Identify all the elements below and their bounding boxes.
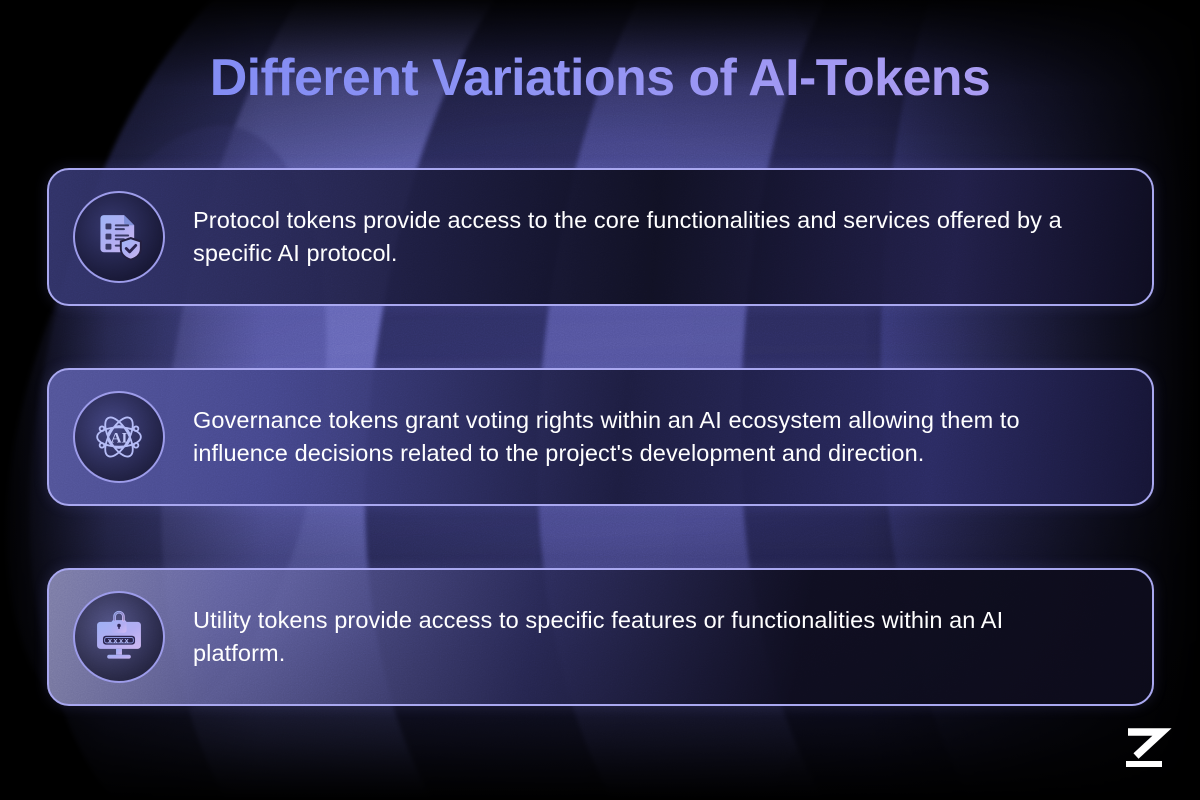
icon-badge-utility: xxxx (73, 591, 165, 683)
card-utility-tokens[interactable]: xxxx Utility tokens provide access to sp… (47, 568, 1154, 706)
svg-text:xxxx: xxxx (108, 636, 130, 645)
card-text-utility: Utility tokens provide access to specifi… (193, 604, 1093, 671)
monitor-password-lock-icon: xxxx (92, 610, 146, 664)
token-cards-list: Protocol tokens provide access to the co… (47, 168, 1154, 706)
icon-badge-governance: AI (73, 391, 165, 483)
icon-badge-protocol (73, 191, 165, 283)
card-text-governance: Governance tokens grant voting rights wi… (193, 404, 1093, 471)
card-protocol-tokens[interactable]: Protocol tokens provide access to the co… (47, 168, 1154, 306)
ai-atom-icon: AI (91, 409, 147, 465)
page-title: Different Variations of AI-Tokens (0, 50, 1200, 107)
ai-atom-icon-label: AI (111, 431, 128, 447)
document-checklist-shield-icon (92, 210, 146, 264)
card-governance-tokens[interactable]: AI Governance tokens grant voting rights… (47, 368, 1154, 506)
brand-logo-icon[interactable] (1122, 726, 1176, 772)
card-text-protocol: Protocol tokens provide access to the co… (193, 204, 1093, 271)
